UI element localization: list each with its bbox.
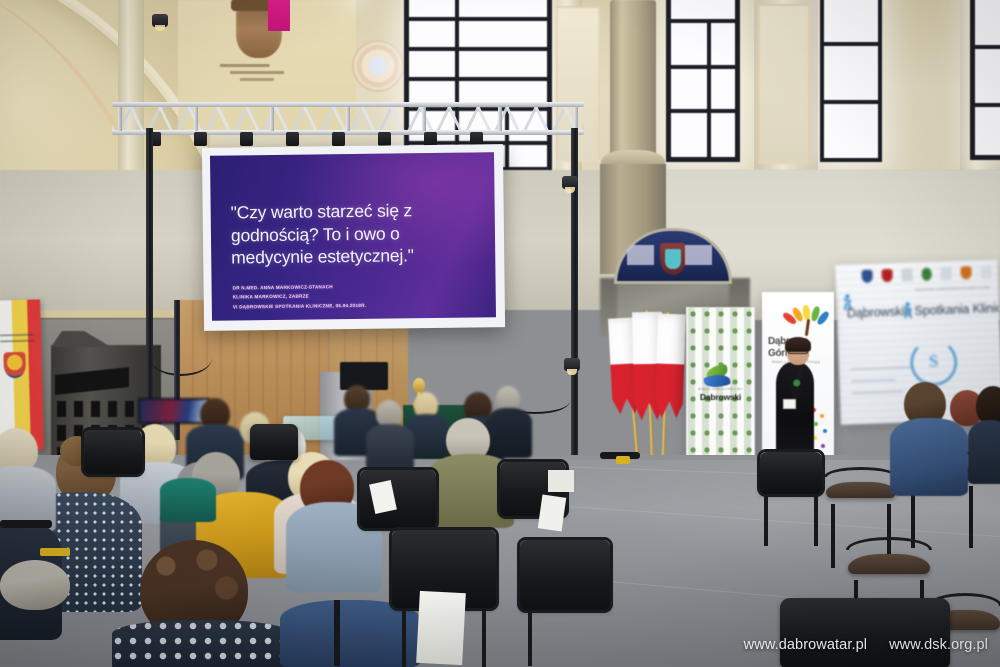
mural-hebrew-text-right [685, 245, 719, 265]
flag-crest-icon [3, 352, 26, 379]
audience-head [0, 560, 70, 610]
curly-hair-body [112, 620, 292, 667]
mural-crest-icon [660, 243, 686, 275]
sponsor-logo-icon [941, 266, 952, 279]
flag-banner-text [0, 334, 34, 347]
sponsor-logo-icon [961, 266, 972, 279]
audience-body [160, 478, 216, 522]
handout-paper [548, 470, 574, 492]
speaker-name-badge [783, 399, 796, 409]
slide-quote-line-1: "Czy warto starzeć się z [231, 198, 485, 224]
runner-figure-icon [903, 302, 914, 320]
sponsor-logo-row [861, 263, 991, 284]
chair [780, 598, 950, 667]
lighting-truss [112, 102, 584, 136]
stage-light [564, 358, 580, 371]
audience-body [366, 424, 414, 470]
conference-hall-photo: "Czy warto starzeć się z godnością? To i… [0, 0, 1000, 667]
slide-credits: DR N.MED. ANNA MARKOWICZ-STANACH KLINIKA… [233, 282, 367, 312]
chair [520, 540, 610, 610]
truss-clamp [194, 132, 207, 146]
stage-light [152, 14, 168, 27]
audience-body [968, 420, 1000, 484]
painted-wall-panel [556, 6, 600, 162]
sponsor-backdrop-banner: BUDŻET PARTYCYPACYJNY Dąbrowski [686, 307, 755, 469]
backdrop-title: Dąbrowski [687, 392, 754, 402]
blue-suit-body [890, 418, 968, 496]
slide-quote-line-2: godnością? To i owo o [231, 221, 485, 247]
projected-slide: "Czy warto starzeć się z godnością? To i… [210, 152, 496, 320]
window-far-right [970, 0, 1000, 160]
window-right [820, 0, 882, 162]
chair [848, 540, 930, 592]
mural-hebrew-text-left [627, 245, 661, 265]
audience-body [486, 408, 532, 458]
backdrop-subtitle: BUDŻET PARTYCYPACYJNY [687, 387, 754, 391]
magenta-marker-tab [268, 0, 290, 31]
projection-screen: "Czy warto starzeć się z godnością? To i… [202, 144, 505, 331]
chair [84, 430, 142, 474]
chair-leg-post [330, 600, 350, 666]
banner-kicker: NAUKOWA KONFERENCJA MEDYCZNA [915, 285, 990, 292]
yellow-cable-clip [40, 548, 70, 556]
watermark-site-1: www.dabrowatar.pl [744, 637, 867, 653]
city-logo-icon [790, 306, 824, 336]
watermark: www.dabrowatar.pl www.dsk.org.pl [744, 637, 988, 653]
truss-clamp [286, 132, 299, 146]
sponsor-logo-icon [981, 265, 992, 278]
sponsor-logo-icon [921, 267, 932, 280]
sponsor-logo-icon [881, 268, 892, 281]
yellow-cable-clip [616, 456, 630, 464]
slide-quote-text: "Czy warto starzeć się z godnością? To i… [231, 198, 486, 269]
truss-clamp [378, 132, 391, 146]
chair [826, 470, 896, 516]
window-center [666, 0, 740, 162]
sponsor-logo-icon [861, 269, 872, 282]
handout-paper [538, 494, 566, 531]
sponsor-logo-icon [901, 268, 912, 281]
fresco-hebrew-inscription [220, 62, 300, 84]
chair [250, 424, 298, 460]
floor-cable-duct [0, 520, 52, 528]
painted-wall-panel [758, 4, 810, 164]
slide-quote-line-3: medycynie estetycznej." [231, 244, 485, 270]
polish-flag [654, 314, 686, 419]
paper-bag [416, 591, 466, 665]
truss-clamp [424, 132, 437, 146]
conference-banner-title: Dąbrowskie Spotkania Kliniczne [847, 300, 1000, 320]
truss-clamp [332, 132, 345, 146]
power-cable [150, 340, 212, 376]
speaker-glasses [788, 349, 808, 354]
conference-emblem-icon [910, 339, 958, 387]
watermark-site-2: www.dsk.org.pl [889, 637, 988, 653]
chair [760, 452, 822, 494]
stage-light [562, 176, 578, 189]
truss-clamp [240, 132, 253, 146]
wall-medallion [352, 40, 404, 92]
slide-event: VI DĄBROWSKIE SPOTKANIA KLINICZNE, 06.04… [233, 301, 366, 312]
